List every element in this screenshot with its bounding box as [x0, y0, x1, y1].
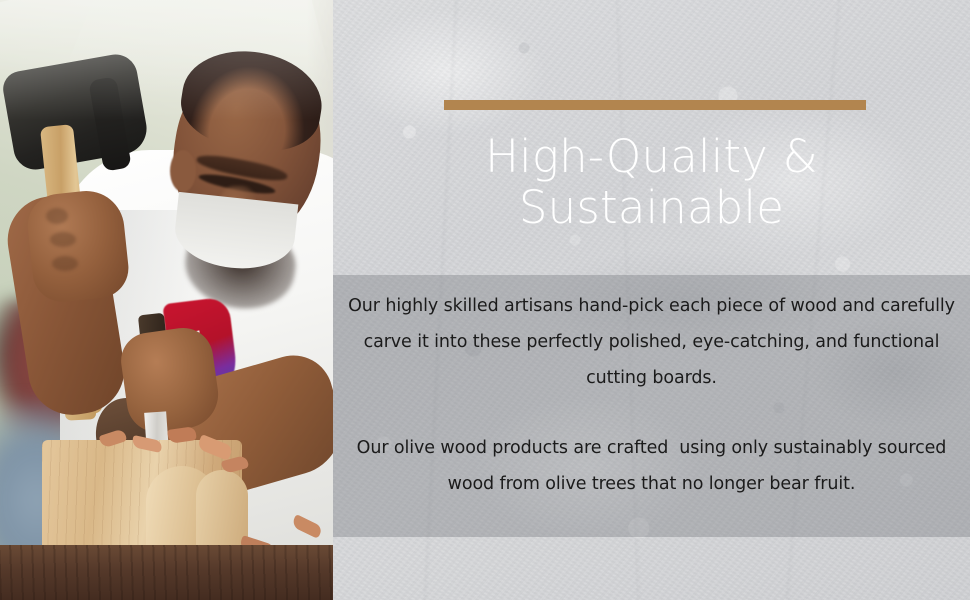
accent-divider-rule: [444, 100, 866, 110]
page-title-line-2: Sustainable: [333, 182, 970, 233]
page-title-line-1: High-Quality &: [333, 131, 970, 182]
page-title: High-Quality & Sustainable: [333, 131, 970, 233]
knuckle-shadow: [50, 232, 76, 247]
artisan-photo: [0, 0, 333, 600]
description-paragraph-1: Our highly skilled artisans hand-pick ea…: [343, 288, 960, 396]
description-text: Our highly skilled artisans hand-pick ea…: [333, 275, 970, 537]
artisan-ear: [170, 150, 196, 192]
artisan-left-hand: [25, 187, 132, 304]
photo-highlight-overlay: [0, 0, 333, 120]
knuckle-shadow: [46, 208, 68, 224]
artisan-right-hand: [117, 324, 222, 436]
description-paragraph-2: Our olive wood products are crafted usin…: [343, 430, 960, 502]
workbench-grain: [0, 545, 333, 600]
knuckle-shadow: [52, 256, 78, 271]
product-feature-banner: High-Quality & Sustainable Our highly sk…: [0, 0, 970, 600]
